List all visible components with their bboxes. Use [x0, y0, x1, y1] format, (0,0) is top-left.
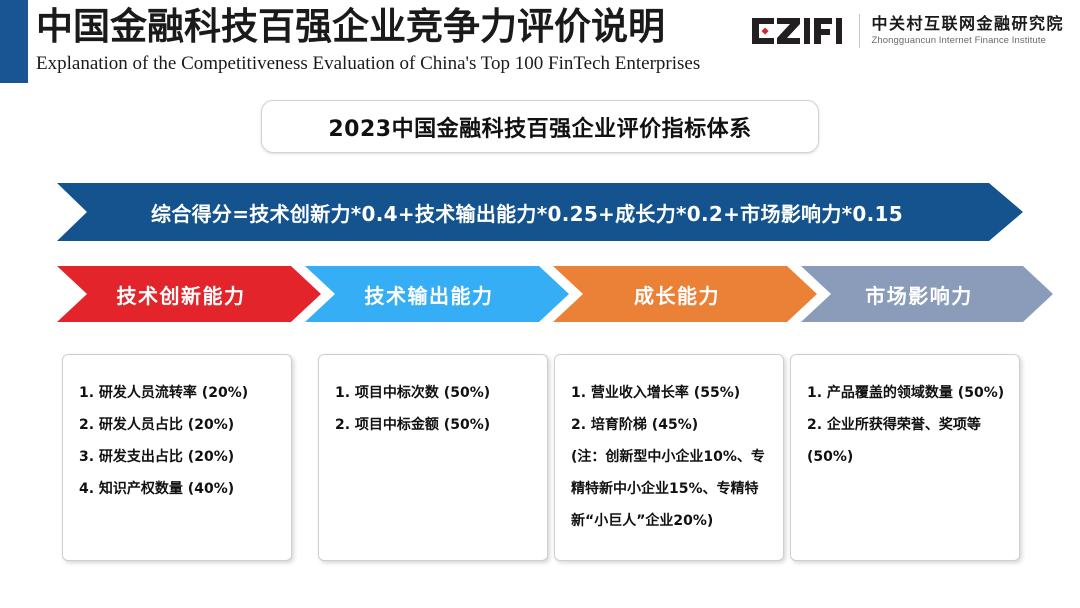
dimension-chevron-4[interactable]: 市场影响力: [801, 266, 1053, 322]
indicator-box-3: 1. 营业收入增长率 (55%)2. 培育阶梯 (45%)(注：创新型中小企业1…: [554, 354, 784, 561]
logo-text-block: 中关村互联网金融研究院 Zhongguancun Internet Financ…: [871, 16, 1064, 46]
composite-score-formula-text: 综合得分=技术创新力*0.4+技术输出能力*0.25+成长力*0.2+市场影响力…: [151, 198, 929, 227]
indicator-item: 2. 研发人员占比 (20%): [79, 409, 279, 441]
page-header: 中国金融科技百强企业竞争力评价说明 Explanation of the Com…: [0, 0, 1080, 86]
dimension-chevron-2[interactable]: 技术输出能力: [305, 266, 569, 322]
dimension-chevron-label: 市场影响力: [865, 280, 989, 309]
title-block: 中国金融科技百强企业竞争力评价说明 Explanation of the Com…: [36, 2, 700, 77]
indicator-item: 2. 培育阶梯 (45%): [571, 409, 771, 441]
indicator-system-title: 2023中国金融科技百强企业评价指标体系: [328, 111, 751, 143]
page-title-cn: 中国金融科技百强企业竞争力评价说明: [36, 2, 700, 50]
indicator-item: 1. 营业收入增长率 (55%): [571, 377, 771, 409]
indicator-box-1: 1. 研发人员流转率 (20%)2. 研发人员占比 (20%)3. 研发支出占比…: [62, 354, 292, 561]
header-accent-bar: [0, 0, 28, 83]
logo-divider: [859, 14, 860, 48]
composite-score-formula-banner: 综合得分=技术创新力*0.4+技术输出能力*0.25+成长力*0.2+市场影响力…: [57, 183, 1023, 241]
indicator-system-title-box: 2023中国金融科技百强企业评价指标体系: [261, 100, 819, 153]
czifi-logo-icon: [750, 16, 850, 46]
dimension-chevron-label: 技术输出能力: [365, 280, 510, 309]
page-title-en: Explanation of the Competitiveness Evalu…: [36, 51, 700, 77]
indicator-item: 2. 企业所获得荣誉、奖项等 (50%): [807, 409, 1007, 473]
dimension-chevron-row: 技术创新能力技术输出能力成长能力市场影响力: [0, 266, 1080, 322]
logo-name-en: Zhongguancun Internet Finance Institute: [871, 36, 1064, 46]
institute-logo: 中关村互联网金融研究院 Zhongguancun Internet Financ…: [750, 10, 1064, 52]
dimension-chevron-3[interactable]: 成长能力: [553, 266, 817, 322]
indicator-item: 3. 研发支出占比 (20%): [79, 441, 279, 473]
indicator-item: 2. 项目中标金额 (50%): [335, 409, 535, 441]
indicator-item: 4. 知识产权数量 (40%): [79, 473, 279, 505]
dimension-chevron-1[interactable]: 技术创新能力: [57, 266, 321, 322]
logo-name-cn: 中关村互联网金融研究院: [871, 16, 1064, 32]
indicator-box-4: 1. 产品覆盖的领域数量 (50%)2. 企业所获得荣誉、奖项等 (50%): [790, 354, 1020, 561]
indicator-item: 1. 研发人员流转率 (20%): [79, 377, 279, 409]
indicator-item: (注：创新型中小企业10%、专精特新中小企业15%、专精特新“小巨人”企业20%…: [571, 441, 771, 537]
indicator-box-2: 1. 项目中标次数 (50%)2. 项目中标金额 (50%): [318, 354, 548, 561]
dimension-chevron-label: 成长能力: [634, 280, 736, 309]
indicator-item: 1. 产品覆盖的领域数量 (50%): [807, 377, 1007, 409]
dimension-chevron-label: 技术创新能力: [117, 280, 262, 309]
indicator-item: 1. 项目中标次数 (50%): [335, 377, 535, 409]
